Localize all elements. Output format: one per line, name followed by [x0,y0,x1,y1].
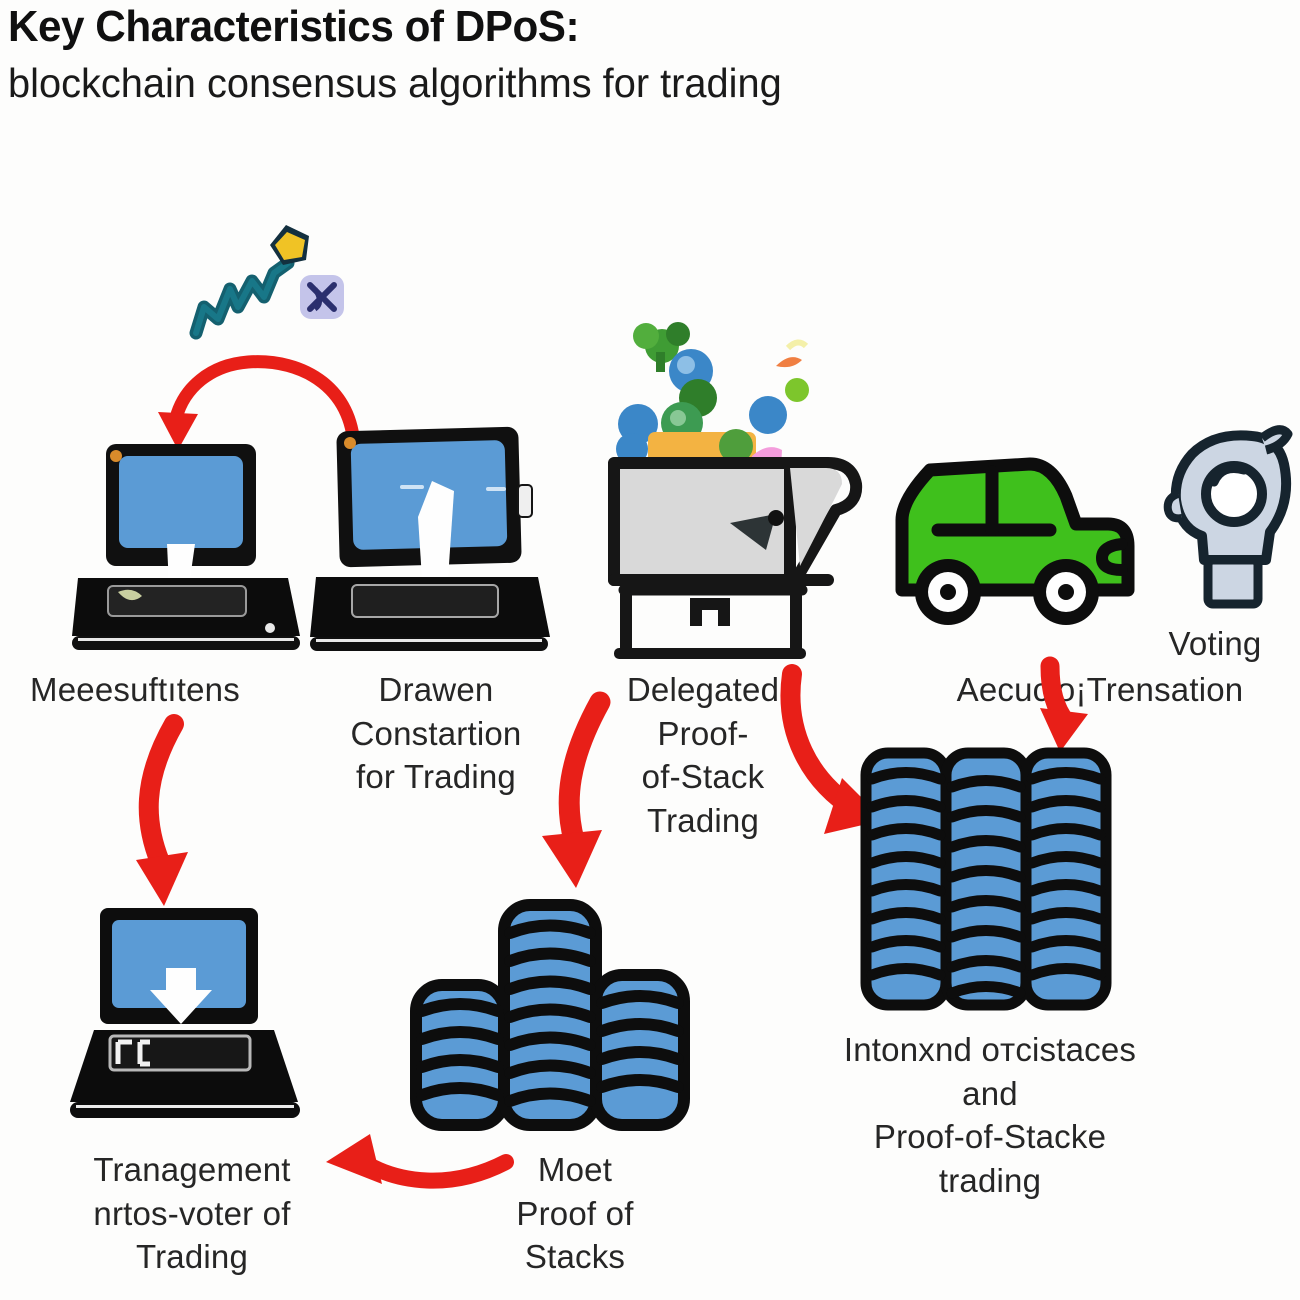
title-block: Key Characteristics of DPoS: blockchain … [8,2,1008,108]
caption-measurements: Meeesuftıtens [0,668,278,712]
caption-interest: Intonxnd oтcistaces and Proof-of-Stacke … [790,1028,1190,1202]
caption-most-proof: Moet Proof of Stacks [450,1148,700,1279]
page-subtitle: blockchain consensus algorithms for trad… [8,59,978,108]
caption-management: Tranagement nrtos-voter of Trading [42,1148,342,1279]
laptop-icon [72,440,302,660]
coin-stacks-icon [404,895,696,1143]
infographic-canvas: Key Characteristics of DPoS: blockchain … [0,0,1300,1300]
coin-stacks-icon [860,745,1112,1013]
car-icon [890,440,1150,640]
rising-trend-line-icon [178,215,358,345]
caption-voting: Voting [1140,622,1290,666]
shopping-cart-icon [590,318,910,663]
caption-delegated-pos: Delegated Proof- of-Stack Trading [608,668,798,842]
caption-accumulation: Aecuclo¡Trensation [900,668,1300,712]
laptop-download-icon [62,898,327,1140]
caption-drawn-contract: Drawen Constartion for Trading [325,668,547,799]
page-title: Key Characteristics of DPoS: [8,2,968,51]
laptop-icon [310,425,550,660]
head-lightbulb-icon [1152,420,1300,620]
arrow-down-curved [112,710,272,910]
